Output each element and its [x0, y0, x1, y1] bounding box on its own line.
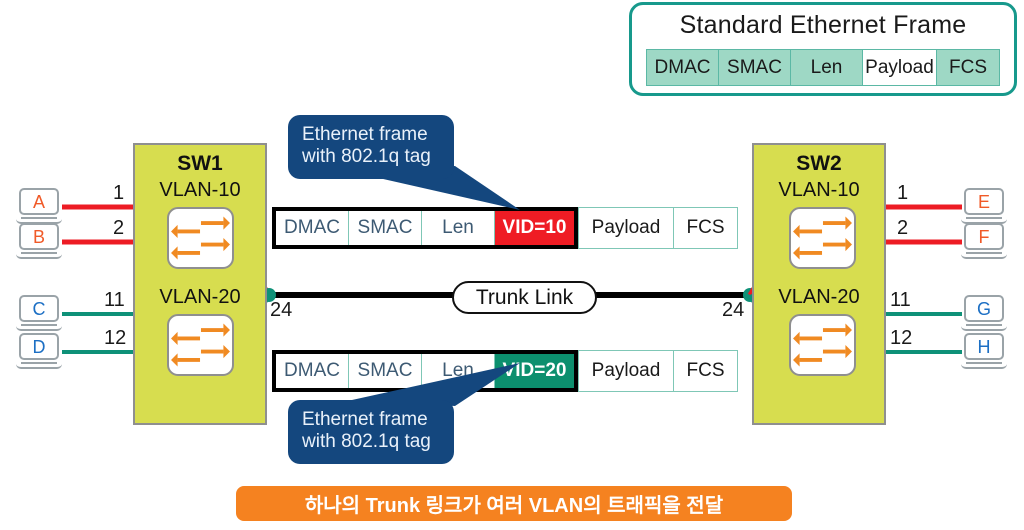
port-label-e: 1: [897, 182, 908, 205]
port-label-a: 1: [113, 182, 124, 205]
switch-arrows-icon: [791, 316, 854, 374]
sw2-vlan10-switch-icon[interactable]: [789, 207, 856, 269]
tf10-cell-len: Len: [422, 211, 495, 245]
callout-bottom-line2: with 802.1q tag: [302, 431, 440, 453]
std-cell-smac: SMAC: [718, 49, 790, 86]
callout-tagged-frame-bottom: Ethernet frame with 802.1q tag: [288, 400, 454, 464]
summary-banner: 하나의 Trunk 링크가 여러 VLAN의 트래픽을 전달: [236, 486, 792, 521]
trunk-port-left: 24: [270, 299, 292, 322]
std-cell-dmac: DMAC: [646, 49, 718, 86]
diagram-canvas: SW1 VLAN-10 VLAN-20: [0, 0, 1024, 530]
sw1-vlan10-switch-icon[interactable]: [167, 207, 234, 269]
sw1-vlan20-switch-icon[interactable]: [167, 314, 234, 376]
std-cell-payload: Payload: [862, 49, 936, 86]
std-cell-len: Len: [790, 49, 862, 86]
tf20-cell-payload: Payload: [578, 350, 674, 392]
tf20-cell-len: Len: [422, 354, 495, 388]
callout-top-line2: with 802.1q tag: [302, 146, 440, 168]
trunk-port-right: 24: [722, 299, 744, 322]
host-d-label: D: [19, 333, 59, 360]
host-g[interactable]: G: [961, 295, 1007, 331]
host-e[interactable]: E: [961, 188, 1007, 224]
host-b[interactable]: B: [16, 223, 62, 259]
host-h[interactable]: H: [961, 333, 1007, 369]
tf20-cell-vid: VID=20: [495, 354, 574, 388]
switch-arrows-icon: [791, 209, 854, 267]
switch-sw1[interactable]: SW1 VLAN-10 VLAN-20: [133, 143, 267, 425]
sw1-vlan10-label: VLAN-10: [135, 179, 265, 202]
tf10-cell-payload: Payload: [578, 207, 674, 249]
callout-bottom-line1: Ethernet frame: [302, 409, 440, 431]
tf10-cell-smac: SMAC: [349, 211, 422, 245]
tf20-cell-smac: SMAC: [349, 354, 422, 388]
sw2-vlan20-switch-icon[interactable]: [789, 314, 856, 376]
port-label-b: 2: [113, 217, 124, 240]
host-c-label: C: [19, 295, 59, 322]
host-a[interactable]: A: [16, 188, 62, 224]
port-label-g: 11: [890, 289, 911, 312]
tf10-cell-dmac: DMAC: [276, 211, 349, 245]
switch-sw2[interactable]: SW2 VLAN-10 VLAN-20: [752, 143, 886, 425]
port-label-h: 12: [890, 327, 912, 350]
tagged-frame-vlan20: DMAC SMAC Len VID=20 Payload FCS: [272, 350, 738, 392]
port-label-c: 11: [104, 289, 125, 312]
callout-top-line1: Ethernet frame: [302, 124, 440, 146]
laptop-base-icon: [16, 252, 62, 259]
host-f-label: F: [964, 223, 1004, 250]
summary-banner-text: 하나의 Trunk 링크가 여러 VLAN의 트래픽을 전달: [305, 489, 723, 518]
laptop-base-icon: [961, 324, 1007, 331]
laptop-base-icon: [16, 324, 62, 331]
sw2-vlan20-label: VLAN-20: [754, 286, 884, 309]
host-c[interactable]: C: [16, 295, 62, 331]
standard-frame-title: Standard Ethernet Frame: [632, 11, 1014, 40]
host-e-label: E: [964, 188, 1004, 215]
host-b-label: B: [19, 223, 59, 250]
trunk-link-label: Trunk Link: [452, 281, 597, 314]
standard-frame-cells: DMAC SMAC Len Payload FCS: [646, 49, 1000, 86]
trunk-link-text: Trunk Link: [476, 286, 573, 310]
switch-arrows-icon: [169, 209, 232, 267]
tagged-frame-vlan10-trailer: Payload FCS: [578, 207, 738, 249]
tagged-frame-vlan10-header: DMAC SMAC Len VID=10: [272, 207, 578, 249]
port-label-d: 12: [104, 327, 126, 350]
std-cell-fcs: FCS: [936, 49, 1000, 86]
port-label-f: 2: [897, 217, 908, 240]
tf10-cell-fcs: FCS: [674, 207, 738, 249]
tf20-cell-dmac: DMAC: [276, 354, 349, 388]
tf20-cell-fcs: FCS: [674, 350, 738, 392]
switch-arrows-icon: [169, 316, 232, 374]
tagged-frame-vlan20-trailer: Payload FCS: [578, 350, 738, 392]
sw2-vlan10-label: VLAN-10: [754, 179, 884, 202]
laptop-base-icon: [961, 252, 1007, 259]
host-h-label: H: [964, 333, 1004, 360]
laptop-base-icon: [961, 362, 1007, 369]
sw1-name: SW1: [135, 152, 265, 176]
host-g-label: G: [964, 295, 1004, 322]
callout-tagged-frame-top: Ethernet frame with 802.1q tag: [288, 115, 454, 179]
standard-ethernet-frame-panel: Standard Ethernet Frame DMAC SMAC Len Pa…: [629, 2, 1017, 96]
tagged-frame-vlan10: DMAC SMAC Len VID=10 Payload FCS: [272, 207, 738, 249]
sw2-name: SW2: [754, 152, 884, 176]
host-d[interactable]: D: [16, 333, 62, 369]
tagged-frame-vlan20-header: DMAC SMAC Len VID=20: [272, 350, 578, 392]
host-a-label: A: [19, 188, 59, 215]
laptop-base-icon: [16, 362, 62, 369]
sw1-vlan20-label: VLAN-20: [135, 286, 265, 309]
host-f[interactable]: F: [961, 223, 1007, 259]
tf10-cell-vid: VID=10: [495, 211, 574, 245]
